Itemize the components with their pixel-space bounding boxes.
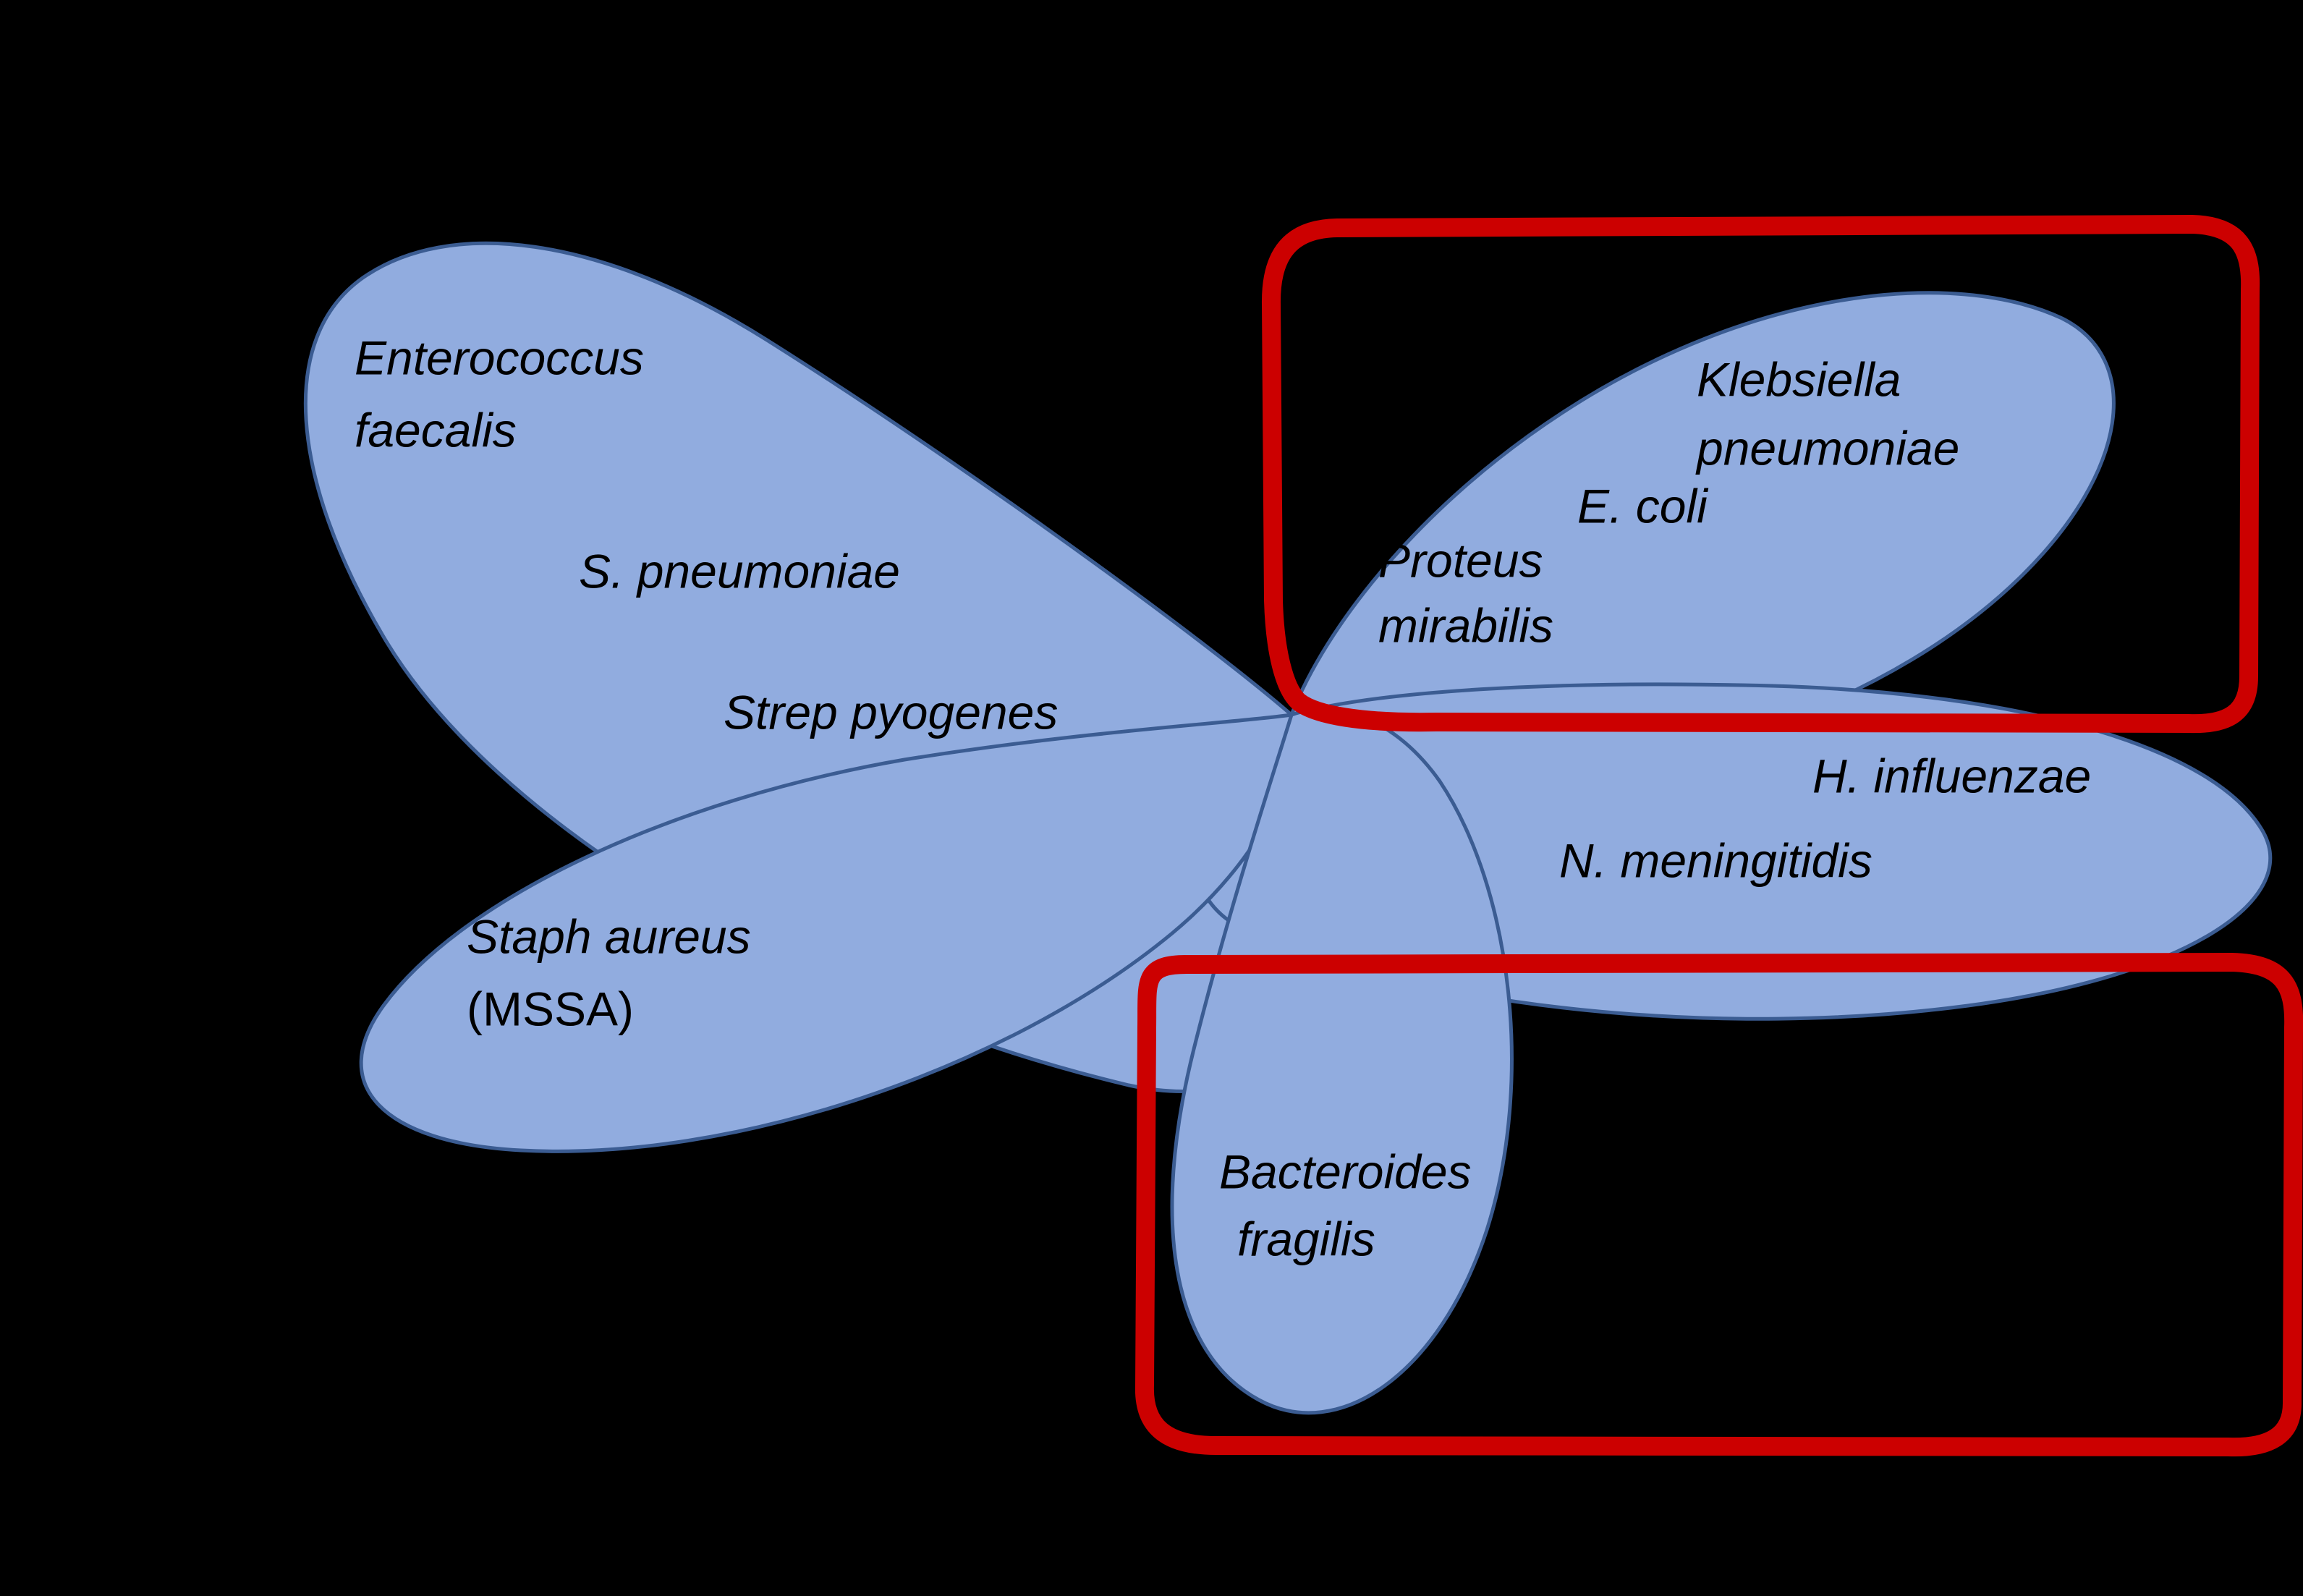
label-n-meningitidis: N. meningitidis: [1559, 833, 1872, 887]
label-h-influenzae: H. influenzae: [1812, 749, 2091, 802]
petal-venn-svg: Enterococcus faecalis S. pneumoniae Stre…: [0, 0, 2303, 1596]
label-staph-aureus-line2: (MSSA): [467, 982, 634, 1035]
label-s-pneumoniae: S. pneumoniae: [579, 544, 900, 598]
label-proteus-line1: Proteus: [1378, 533, 1543, 587]
diagram-canvas: Enterococcus faecalis S. pneumoniae Stre…: [0, 0, 2303, 1596]
label-e-coli: E. coli: [1577, 479, 1709, 532]
label-enterococcus-faecalis-line1: Enterococcus: [355, 331, 644, 384]
label-staph-aureus-line1: Staph aureus: [467, 909, 751, 963]
label-bacteroides-line2: fragilis: [1237, 1212, 1375, 1265]
label-enterococcus-faecalis-line2: faecalis: [355, 403, 517, 457]
label-strep-pyogenes: Strep pyogenes: [724, 685, 1058, 739]
label-bacteroides-line1: Bacteroides: [1219, 1145, 1472, 1198]
label-klebsiella-line2: pneumoniae: [1695, 421, 1959, 475]
label-proteus-line2: mirabilis: [1378, 598, 1553, 652]
label-klebsiella-line1: Klebsiella: [1697, 352, 1901, 406]
